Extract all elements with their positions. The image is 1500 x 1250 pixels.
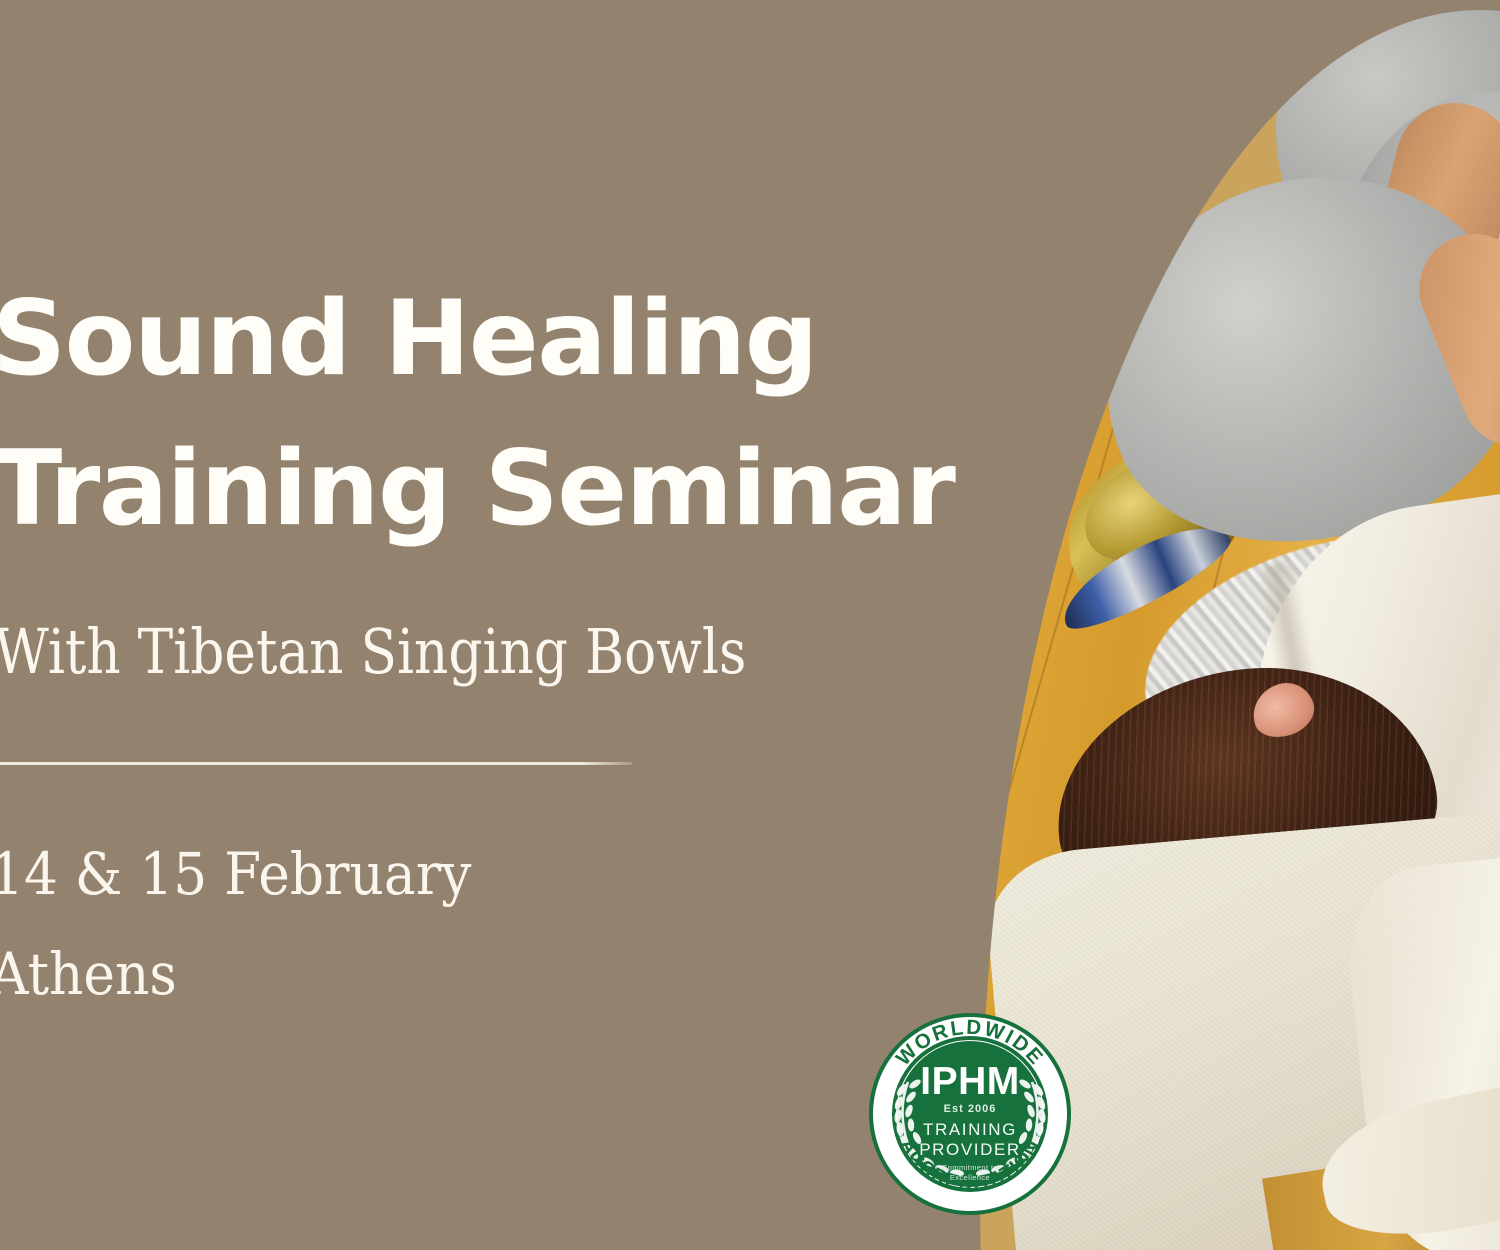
event-dates: 14 & 15 February — [0, 845, 471, 903]
event-location: Athens — [0, 945, 177, 1003]
poster-canvas: Sound Healing Training Seminar With Tibe… — [0, 0, 1500, 1250]
badge-line-1: TRAINING — [923, 1120, 1017, 1139]
badge-tagline-2: Excellence — [950, 1173, 990, 1182]
badge-tagline-1: Commitment to — [942, 1163, 998, 1172]
headline-line-1: Sound Healing — [0, 288, 817, 391]
badge-svg: WORLDWIDE ACCREDITATION IPHM Est 2006 TR… — [866, 1010, 1074, 1218]
subtitle: With Tibetan Singing Bowls — [0, 621, 746, 683]
badge-line-2: PROVIDER — [919, 1140, 1021, 1159]
badge-established: Est 2006 — [944, 1103, 997, 1115]
badge-acronym: IPHM — [920, 1060, 1020, 1103]
iphm-accreditation-badge: WORLDWIDE ACCREDITATION IPHM Est 2006 TR… — [866, 1010, 1074, 1218]
headline-line-2: Training Seminar — [0, 438, 954, 541]
horizontal-divider — [0, 762, 632, 765]
